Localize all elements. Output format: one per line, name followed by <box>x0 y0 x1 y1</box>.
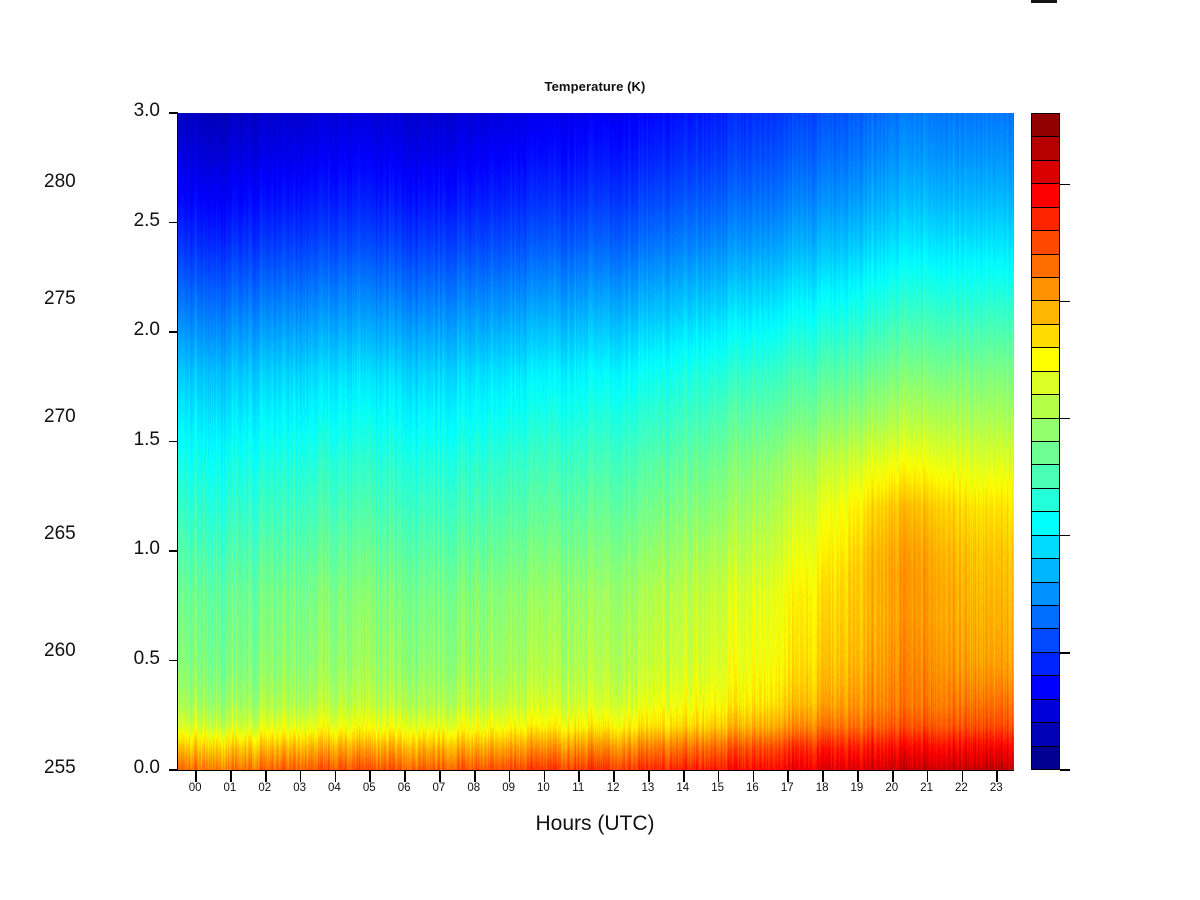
x-axis-tick <box>787 770 789 782</box>
x-axis-tick-label: 21 <box>912 782 942 794</box>
x-axis-tick <box>195 770 197 782</box>
x-axis-tick-label: 02 <box>250 782 280 794</box>
colorbar-tick-label: 280 <box>44 171 76 193</box>
x-axis-tick-label: 04 <box>319 782 349 794</box>
colorbar-tick <box>1060 418 1070 419</box>
render-artifact-line <box>1031 0 1057 3</box>
y-axis-tick <box>169 769 178 771</box>
y-axis-tick-label: 1.5 <box>100 429 160 451</box>
colorbar-band <box>1031 394 1060 418</box>
y-axis-tick-label: 1.0 <box>100 538 160 560</box>
colorbar-band <box>1031 511 1060 535</box>
colorbar-band <box>1031 207 1060 231</box>
colorbar-band <box>1031 582 1060 606</box>
colorbar-tick-label: 255 <box>44 757 76 779</box>
colorbar-tick <box>1060 184 1070 185</box>
x-axis-tick-label: 12 <box>598 782 628 794</box>
colorbar-band <box>1031 277 1060 301</box>
x-axis-tick <box>648 770 650 782</box>
x-axis-tick <box>613 770 615 782</box>
colorbar-band <box>1031 230 1060 254</box>
x-axis-tick <box>509 770 511 782</box>
colorbar-tick-label: 260 <box>44 640 76 662</box>
y-axis-tick <box>169 441 178 443</box>
x-axis-tick-label: 10 <box>528 782 558 794</box>
colorbar-band <box>1031 699 1060 723</box>
x-axis-tick-label: 15 <box>703 782 733 794</box>
x-axis-tick <box>544 770 546 782</box>
x-axis-tick <box>892 770 894 782</box>
x-axis-title: Hours (UTC) <box>177 812 1013 836</box>
colorbar-tick <box>1060 769 1070 770</box>
colorbar-band <box>1031 324 1060 348</box>
x-axis-tick-label: 01 <box>215 782 245 794</box>
y-axis-tick-label: 0.5 <box>100 648 160 670</box>
colorbar-band <box>1031 722 1060 746</box>
colorbar-band <box>1031 675 1060 699</box>
x-axis-tick-label: 08 <box>459 782 489 794</box>
x-axis-tick-label: 22 <box>946 782 976 794</box>
colorbar-band <box>1031 160 1060 184</box>
x-axis-tick <box>369 770 371 782</box>
y-axis-tick-label: 2.5 <box>100 210 160 232</box>
x-axis-tick-label: 13 <box>633 782 663 794</box>
x-axis-tick <box>857 770 859 782</box>
y-axis-tick <box>169 112 178 114</box>
y-axis-title-wrap: Height (km) <box>79 441 80 442</box>
y-axis-tick-label: 2.0 <box>100 319 160 341</box>
colorbar-band <box>1031 535 1060 559</box>
plot-frame <box>177 113 1014 771</box>
page-title: Temperature (K) <box>177 79 1013 94</box>
x-axis-tick <box>962 770 964 782</box>
colorbar-band <box>1031 464 1060 488</box>
x-axis-tick-label: 20 <box>877 782 907 794</box>
x-axis-tick <box>718 770 720 782</box>
x-axis-tick-label: 17 <box>772 782 802 794</box>
colorbar-tick-label: 275 <box>44 288 76 310</box>
x-axis-tick <box>265 770 267 782</box>
y-axis-tick <box>169 222 178 224</box>
x-axis-tick <box>230 770 232 782</box>
colorbar-band <box>1031 628 1060 652</box>
colorbar-tick <box>1060 301 1070 302</box>
x-axis-tick <box>578 770 580 782</box>
x-axis-tick <box>404 770 406 782</box>
y-axis-tick-label: 0.0 <box>100 757 160 779</box>
x-axis-tick <box>753 770 755 782</box>
y-axis-tick-label: 3.0 <box>100 100 160 122</box>
colorbar-band <box>1031 183 1060 207</box>
colorbar-band <box>1031 113 1060 137</box>
y-axis-tick <box>169 550 178 552</box>
x-axis-tick-label: 00 <box>180 782 210 794</box>
colorbar-band <box>1031 136 1060 160</box>
colorbar-band <box>1031 418 1060 442</box>
x-axis-tick-label: 03 <box>285 782 315 794</box>
colorbar <box>1031 114 1060 770</box>
colorbar-band <box>1031 558 1060 582</box>
temperature-time-height-figure: Temperature (K) 0.00.51.01.52.02.53.0 00… <box>0 0 1200 900</box>
x-axis-tick-label: 19 <box>842 782 872 794</box>
x-axis-tick <box>300 770 302 782</box>
x-axis-tick <box>335 770 337 782</box>
x-axis-tick-label: 23 <box>981 782 1011 794</box>
x-axis-tick <box>927 770 929 782</box>
colorbar-tick-label: 265 <box>44 523 76 545</box>
x-axis-tick <box>439 770 441 782</box>
x-axis-tick <box>822 770 824 782</box>
x-axis-tick-label: 11 <box>563 782 593 794</box>
x-axis-tick-label: 07 <box>424 782 454 794</box>
x-axis-tick <box>474 770 476 782</box>
colorbar-band <box>1031 441 1060 465</box>
colorbar-tick <box>1060 652 1070 653</box>
colorbar-tick-label: 270 <box>44 406 76 428</box>
colorbar-band <box>1031 605 1060 629</box>
x-axis-tick <box>996 770 998 782</box>
heatmap-canvas-container <box>178 113 1014 770</box>
x-axis-tick <box>683 770 685 782</box>
y-axis-tick <box>169 331 178 333</box>
colorbar-band <box>1031 254 1060 278</box>
colorbar-band <box>1031 347 1060 371</box>
x-axis-tick-label: 14 <box>668 782 698 794</box>
colorbar-band <box>1031 300 1060 324</box>
x-axis-tick-label: 06 <box>389 782 419 794</box>
colorbar-band <box>1031 746 1060 770</box>
colorbar-band <box>1031 371 1060 395</box>
x-axis-tick-label: 05 <box>354 782 384 794</box>
colorbar-band <box>1031 488 1060 512</box>
colorbar-tick <box>1060 535 1070 536</box>
x-axis-tick-label: 16 <box>737 782 767 794</box>
x-axis-tick-label: 09 <box>494 782 524 794</box>
colorbar-band <box>1031 652 1060 676</box>
y-axis-tick <box>169 660 178 662</box>
x-axis-tick-label: 18 <box>807 782 837 794</box>
heatmap-image <box>178 113 1014 770</box>
